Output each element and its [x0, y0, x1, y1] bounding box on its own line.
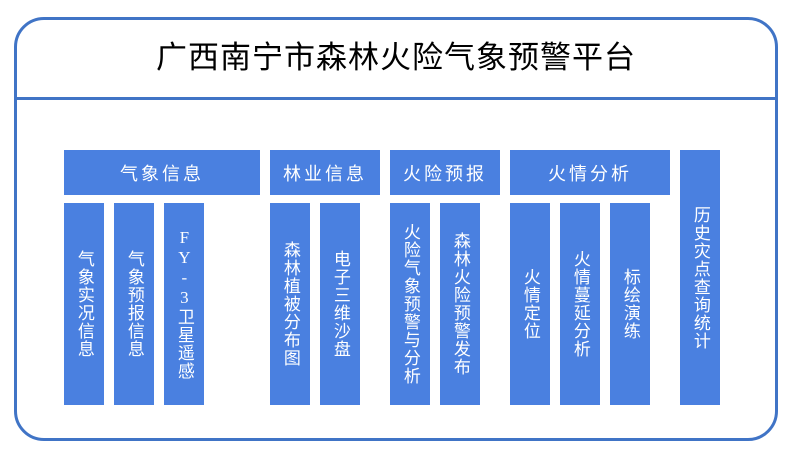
group-items-row: 气象实况信息气象预报信息FY-3卫星遥感 — [64, 203, 204, 405]
module-item-button[interactable]: 标绘演练 — [610, 203, 650, 405]
module-item-button[interactable]: 电子三维沙盘 — [320, 203, 360, 405]
module-item-button[interactable]: 森林火险预警发布 — [440, 203, 480, 405]
module-board: 气象信息气象实况信息气象预报信息FY-3卫星遥感林业信息森林植被分布图电子三维沙… — [17, 100, 775, 441]
module-item-button[interactable]: 火险气象预警与分析 — [390, 203, 430, 405]
module-item-label: 森林火险预警发布 — [449, 232, 471, 376]
group-header-label: 气象信息 — [120, 160, 204, 186]
module-item-label: 火险气象预警与分析 — [399, 223, 421, 385]
group-header-button[interactable]: 火情分析 — [510, 150, 670, 195]
module-item-button[interactable]: 森林植被分布图 — [270, 203, 310, 405]
group-header-button[interactable]: 气象信息 — [64, 150, 260, 195]
module-item-button[interactable]: 火情定位 — [510, 203, 550, 405]
module-item-label: 森林植被分布图 — [279, 241, 301, 367]
group-items-row: 火情定位火情蔓延分析标绘演练 — [510, 203, 650, 405]
title-bar: 广西南宁市森林火险气象预警平台 — [17, 20, 775, 97]
group-header-button[interactable]: 林业信息 — [270, 150, 380, 195]
module-item-label: 气象实况信息 — [73, 250, 95, 358]
standalone-module-button[interactable]: 历史灾点查询统计 — [680, 150, 720, 405]
group-items-row: 森林植被分布图电子三维沙盘 — [270, 203, 360, 405]
page-title: 广西南宁市森林火险气象预警平台 — [156, 41, 636, 75]
platform-frame: 广西南宁市森林火险气象预警平台 气象信息气象实况信息气象预报信息FY-3卫星遥感… — [14, 17, 778, 441]
module-item-button[interactable]: 气象预报信息 — [114, 203, 154, 405]
standalone-module-label: 历史灾点查询统计 — [689, 206, 711, 350]
diagram-page: 广西南宁市森林火险气象预警平台 气象信息气象实况信息气象预报信息FY-3卫星遥感… — [0, 0, 798, 459]
group-header-label: 火情分析 — [548, 160, 632, 186]
module-item-label: 火情定位 — [519, 268, 541, 340]
module-item-label: 标绘演练 — [619, 268, 641, 340]
module-item-label: FY-3卫星遥感 — [173, 228, 195, 380]
module-item-label: 气象预报信息 — [123, 250, 145, 358]
group-header-label: 火险预报 — [403, 160, 487, 186]
module-item-button[interactable]: 火情蔓延分析 — [560, 203, 600, 405]
module-item-label: 火情蔓延分析 — [569, 250, 591, 358]
module-item-label: 电子三维沙盘 — [329, 250, 351, 358]
group-items-row: 火险气象预警与分析森林火险预警发布 — [390, 203, 480, 405]
module-item-button[interactable]: 气象实况信息 — [64, 203, 104, 405]
group-header-label: 林业信息 — [283, 160, 367, 186]
module-item-button[interactable]: FY-3卫星遥感 — [164, 203, 204, 405]
group-header-button[interactable]: 火险预报 — [390, 150, 500, 195]
